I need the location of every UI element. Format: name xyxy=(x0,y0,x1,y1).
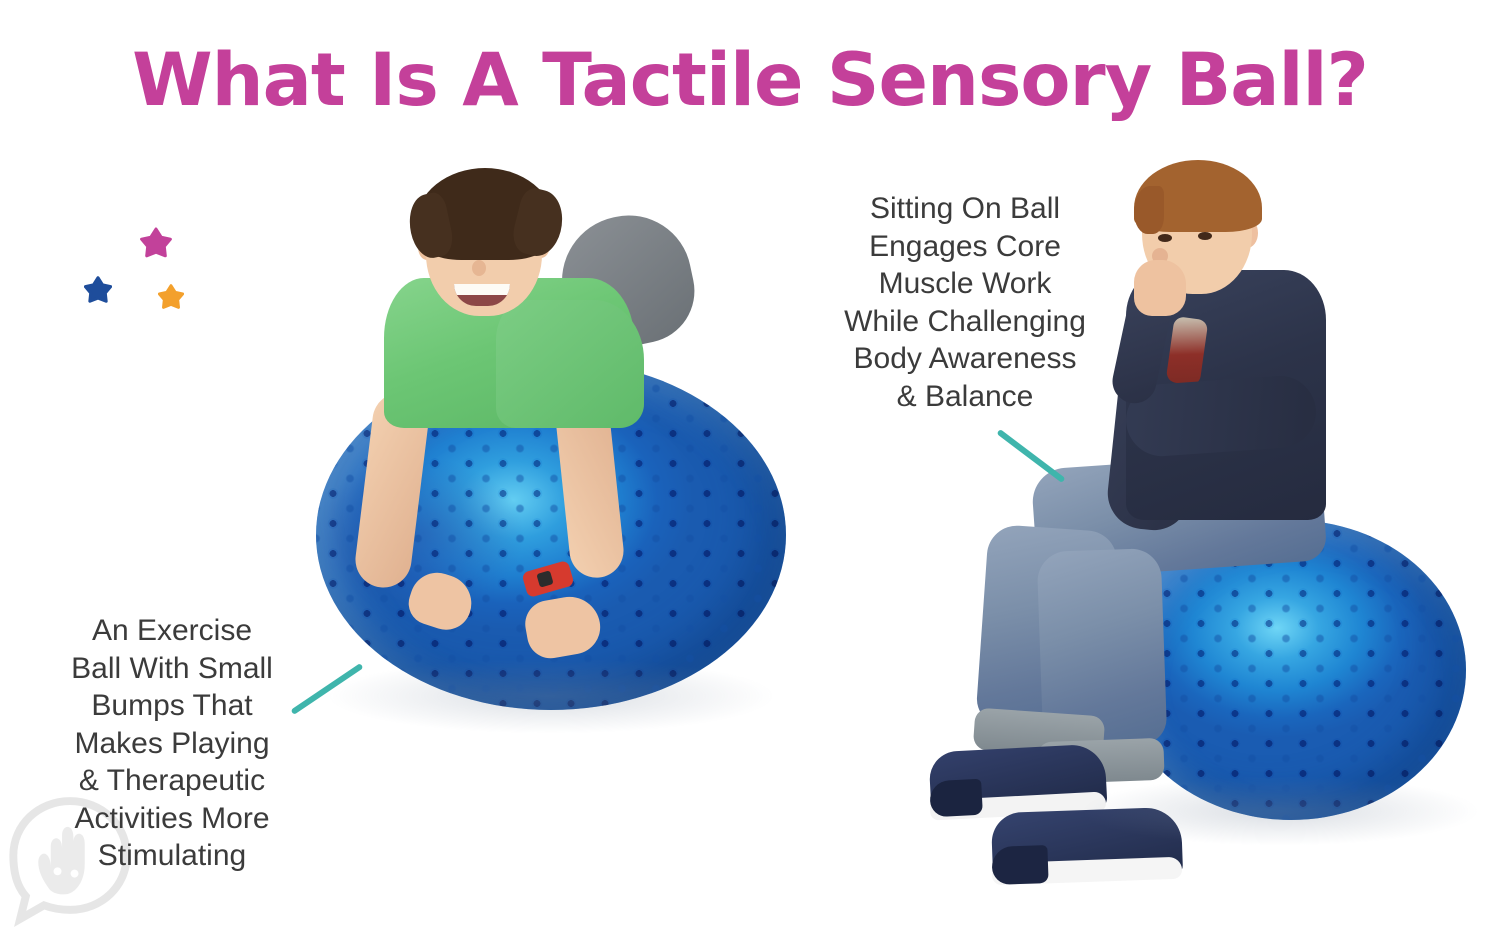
boy2-eye-right xyxy=(1198,232,1212,240)
callout-left-text: An Exercise Ball With Small Bumps That M… xyxy=(38,612,306,875)
callout-right-line-2: Engages Core xyxy=(820,228,1110,266)
callout-left-line-1: An Exercise xyxy=(38,612,306,650)
boy-green-shirt-sleeve xyxy=(496,300,644,428)
callout-left-line-4: Makes Playing xyxy=(38,725,306,763)
callout-right-line-6: & Balance xyxy=(820,378,1110,416)
page-title: What Is A Tactile Sensory Ball? xyxy=(0,38,1500,123)
callout-left-line-3: Bumps That xyxy=(38,687,306,725)
sneaker-toe-left xyxy=(929,779,983,818)
callout-right-line-5: Body Awareness xyxy=(820,340,1110,378)
callout-right-line-1: Sitting On Ball xyxy=(820,190,1110,228)
callout-right-line-3: Muscle Work xyxy=(820,265,1110,303)
callout-left-line-5: & Therapeutic xyxy=(38,762,306,800)
infographic-canvas: What Is A Tactile Sensory Ball? xyxy=(0,0,1500,927)
callout-left-line-7: Stimulating xyxy=(38,837,306,875)
boy-nose xyxy=(472,260,486,276)
floor-shadow xyxy=(326,658,776,734)
boy2-fist-on-chin xyxy=(1134,260,1186,316)
star-blue-icon xyxy=(84,276,112,304)
photo-boy-lying-on-ball xyxy=(300,160,800,745)
callout-left-line-6: Activities More xyxy=(38,800,306,838)
floor-shadow-right xyxy=(1080,776,1480,846)
star-orange-icon xyxy=(158,284,184,310)
callout-right-line-4: While Challenging xyxy=(820,303,1110,341)
boy-teeth xyxy=(454,284,510,295)
boy2-hair-side xyxy=(1134,186,1164,234)
callout-right-text: Sitting On Ball Engages Core Muscle Work… xyxy=(820,190,1110,415)
star-magenta-icon xyxy=(140,227,172,259)
callout-left-line-2: Ball With Small xyxy=(38,650,306,688)
boy2-eye-left xyxy=(1158,234,1172,242)
sneaker-toe-right xyxy=(991,845,1048,885)
